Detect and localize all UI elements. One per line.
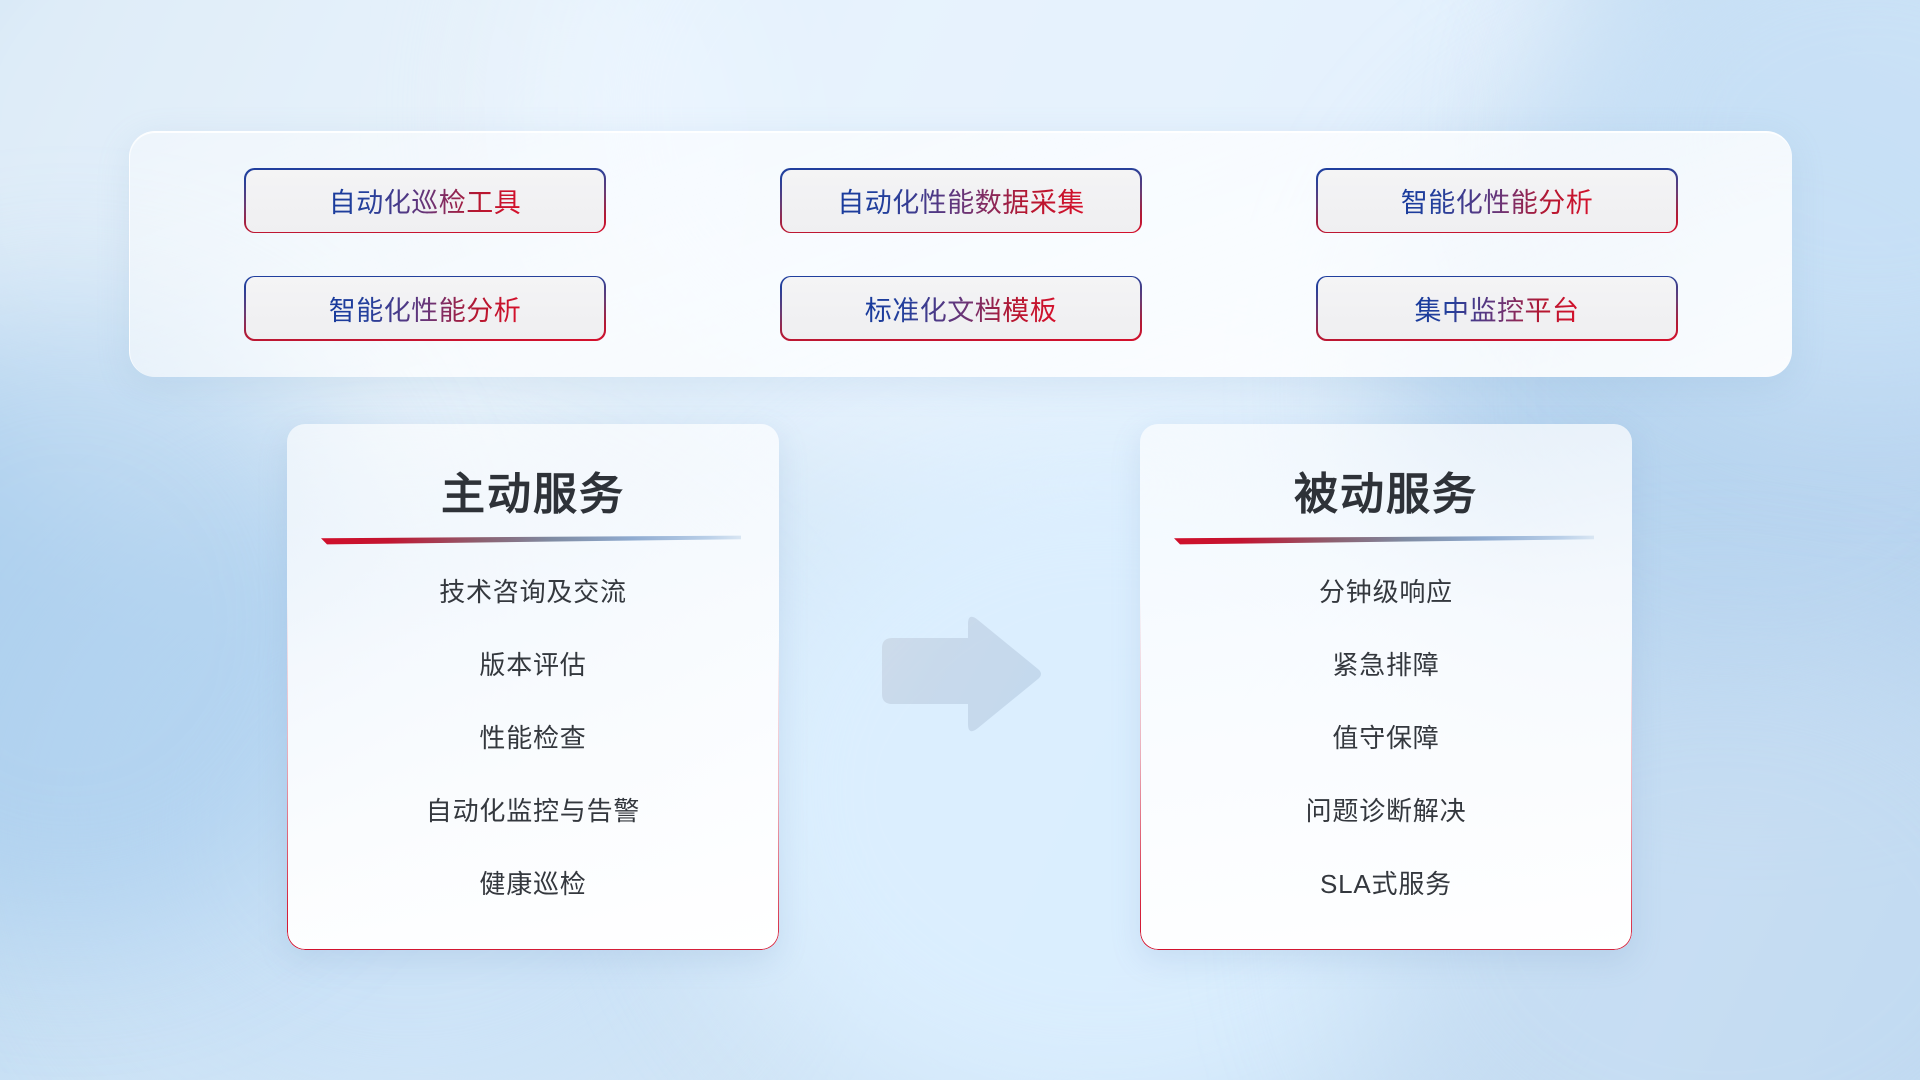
tag-chip[interactable]: 智能化性能分析 [1318,170,1676,232]
slide-canvas: 自动化巡检工具 自动化性能数据采集 智能化性能分析 智能化性能分析 [0,0,1920,1080]
tag-label: 智能化性能分析 [329,289,522,328]
tag-label: 标准化文档模板 [865,289,1058,328]
card-item: 问题诊断解决 [1306,791,1467,828]
card-item: 紧急排障 [1332,645,1439,682]
card-item: 自动化监控与告警 [426,791,640,828]
card-item-list: 分钟级响应 紧急排障 值守保障 问题诊断解决 SLA式服务 [1140,572,1632,901]
card-title: 主动服务 [287,458,779,522]
card-item: 值守保障 [1332,718,1439,755]
capability-tag-panel: 自动化巡检工具 自动化性能数据采集 智能化性能分析 智能化性能分析 [129,131,1792,377]
tag-chip[interactable]: 标准化文档模板 [782,277,1140,339]
tag-item[interactable]: 智能化性能分析 [246,277,604,339]
tag-item[interactable]: 自动化性能数据采集 [782,170,1140,232]
tag-item[interactable]: 集中监控平台 [1318,277,1676,339]
tag-chip[interactable]: 智能化性能分析 [246,277,604,339]
tag-item[interactable]: 标准化文档模板 [782,277,1140,339]
service-card-passive[interactable]: 被动服务 分钟级响应 紧急排障 值守保障 问题诊断解决 SLA式服务 [1140,424,1632,950]
card-title: 被动服务 [1140,458,1632,522]
card-item: 版本评估 [479,645,586,682]
tag-item[interactable]: 智能化性能分析 [1318,170,1676,232]
card-item: 分钟级响应 [1319,572,1453,609]
capability-tag-grid: 自动化巡检工具 自动化性能数据采集 智能化性能分析 智能化性能分析 [130,132,1792,377]
service-card-active[interactable]: 主动服务 技术咨询及交流 版本评估 性能检查 自动化监控与告警 健康巡检 [287,424,779,950]
tag-label: 智能化性能分析 [1401,181,1594,220]
arrow-right-icon [874,610,1046,732]
card-item: SLA式服务 [1320,864,1452,901]
tag-label: 集中监控平台 [1415,289,1580,328]
card-item: 性能检查 [479,718,586,755]
tag-label: 自动化性能数据采集 [837,181,1085,220]
card-title-divider [321,534,741,546]
tag-chip[interactable]: 自动化性能数据采集 [782,170,1140,232]
card-item-list: 技术咨询及交流 版本评估 性能检查 自动化监控与告警 健康巡检 [287,572,779,901]
tag-chip[interactable]: 集中监控平台 [1318,277,1676,339]
tag-item[interactable]: 自动化巡检工具 [246,170,604,232]
card-title-divider [1174,534,1594,546]
tag-chip[interactable]: 自动化巡检工具 [246,170,604,232]
card-item: 技术咨询及交流 [439,572,627,609]
tag-label: 自动化巡检工具 [329,181,522,220]
card-item: 健康巡检 [479,864,586,901]
